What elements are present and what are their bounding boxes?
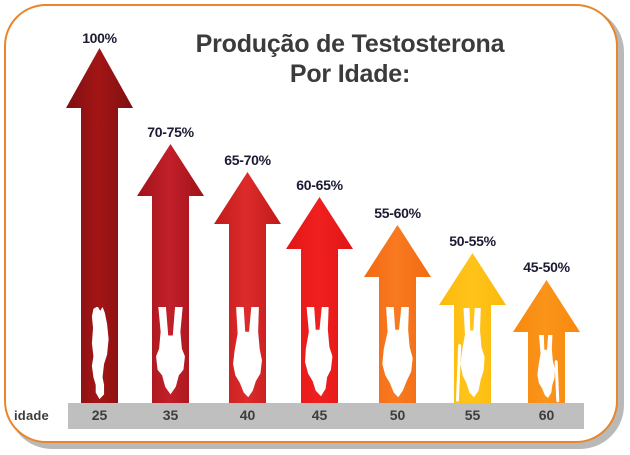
chart-plot-area: Produção de Testosterona Por Idade: 100%…: [0, 0, 630, 455]
infographic-canvas: Produção de Testosterona Por Idade: 100%…: [0, 0, 630, 455]
axis-label-idade: idade: [14, 408, 68, 423]
arrow-bar-age-60[interactable]: [513, 280, 580, 403]
arrow-bars-svg: [0, 0, 630, 455]
axis-tick-60: 60: [519, 407, 575, 423]
arrow-bar-age-50[interactable]: [364, 225, 431, 403]
value-label-age-40: 65-70%: [203, 152, 293, 168]
value-label-age-25: 100%: [55, 30, 145, 46]
axis-tick-25: 25: [72, 407, 128, 423]
axis-tick-45: 45: [292, 407, 348, 423]
value-label-age-45: 60-65%: [275, 177, 365, 193]
axis-tick-40: 40: [220, 407, 276, 423]
value-label-age-60: 45-50%: [502, 259, 592, 275]
arrow-bar-age-55[interactable]: [439, 253, 506, 403]
arrow-bar-age-35[interactable]: [137, 144, 204, 403]
arrow-bar-age-25[interactable]: [66, 48, 133, 403]
value-label-age-50: 55-60%: [353, 205, 443, 221]
arrow-bar-age-45[interactable]: [286, 197, 353, 403]
axis-tick-55: 55: [445, 407, 501, 423]
arrow-bar-age-40[interactable]: [214, 172, 281, 403]
value-label-age-35: 70-75%: [126, 124, 216, 140]
axis-tick-50: 50: [370, 407, 426, 423]
value-label-age-55: 50-55%: [428, 233, 518, 249]
axis-tick-35: 35: [143, 407, 199, 423]
cane-icon: [556, 362, 558, 401]
